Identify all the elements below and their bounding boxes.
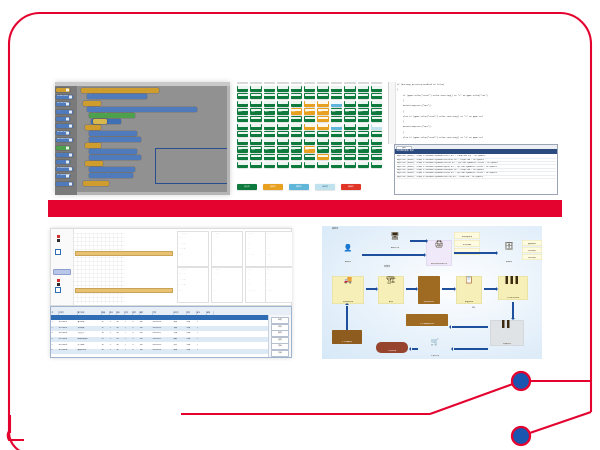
palette-block[interactable]: call Web1.Get: [56, 131, 70, 135]
tile-body: M-09: [345, 157, 355, 159]
status-tile[interactable]: M-05: [291, 124, 302, 130]
status-tile[interactable]: M-07: [317, 162, 328, 168]
status-tile[interactable]: M-06: [304, 86, 315, 92]
tile-body: M-01: [238, 142, 248, 144]
canvas-block[interactable]: set Label2.Text to length get list: [85, 143, 101, 148]
palette-block[interactable]: set ListView1.Elements: [56, 167, 73, 171]
status-tile[interactable]: M-06: [304, 154, 315, 160]
status-tile[interactable]: M-09: [344, 131, 355, 137]
status-tile[interactable]: M-11: [371, 139, 382, 145]
flow-arrow: [484, 288, 496, 290]
status-tile[interactable]: M-08: [331, 101, 342, 107]
flow-node-putaway[interactable]: 🛒上架入库: [420, 338, 450, 358]
status-tile[interactable]: M-10: [358, 93, 369, 99]
screenshot-schedule-and-table[interactable]: 工序安排表设备编号 M-01计划数量 1200实际数量 1180完成率 98%工…: [50, 228, 292, 358]
status-tile[interactable]: M-10: [358, 131, 369, 137]
canvas-block[interactable]: call Notifier1.ShowAlert notice: [85, 161, 103, 166]
palette-block[interactable]: if then else: [56, 117, 70, 121]
tile-body: M-08: [331, 89, 341, 91]
table-cell: 18: [101, 344, 109, 347]
canvas-block[interactable]: set global selectedItem to ListPicker1.S…: [87, 94, 147, 99]
status-tile[interactable]: M-02: [250, 116, 261, 122]
status-tile[interactable]: M-07: [317, 86, 328, 92]
column-header-chip: [291, 82, 302, 84]
palette-block[interactable]: get global count: [56, 110, 73, 114]
status-tile[interactable]: M-06: [304, 116, 315, 122]
tile-label: M-10: [358, 142, 368, 145]
status-tile[interactable]: M-06: [304, 93, 315, 99]
status-legend: 运行中待机中保养中未启用故障中: [237, 183, 385, 195]
table-row[interactable]: 2SO-230102东芝机械32个48107682023-01-10李娜已审Y: [51, 326, 291, 331]
tile-body: M-04: [278, 142, 288, 144]
status-tile[interactable]: M-04: [277, 116, 288, 122]
status-tile[interactable]: M-01: [237, 101, 248, 107]
status-tile[interactable]: M-08: [331, 139, 342, 145]
tile-label: M-05: [291, 119, 301, 122]
screenshot-logistics-flow[interactable]: 🖥采购订单👤采购员🖨物料自动识别分类到货通知单出库单据作业任务单🗄数据库基础资料…: [322, 226, 542, 359]
status-tile[interactable]: M-03: [264, 116, 275, 122]
status-tile[interactable]: M-10: [358, 162, 369, 168]
screenshot-code-editor[interactable]: if (bartoqu_pruttiny.Enabled == false){ …: [388, 82, 558, 195]
status-tile[interactable]: M-06: [304, 131, 315, 137]
gantt-detail-card[interactable]: 质检结果抽检 50合格 49不良 1判定 合格: [265, 231, 292, 267]
tile-label: M-05: [291, 165, 301, 168]
table-cell: 富士电机: [77, 321, 101, 324]
tile-label: M-02: [251, 142, 261, 145]
tile-body: M-11: [372, 104, 382, 106]
tile-label: M-03: [264, 127, 274, 130]
flow-arrow: [454, 252, 496, 254]
tile-label: M-10: [358, 134, 368, 137]
status-tile[interactable]: M-05: [291, 86, 302, 92]
tile-label: M-11: [372, 104, 382, 107]
tile-body: M-10: [358, 165, 368, 167]
status-tile[interactable]: M-04: [277, 139, 288, 145]
slide-canvas: when Screen1.Initializeset Label1.Text t…: [0, 0, 600, 450]
canvas-block[interactable]: set Label1.Visible to false: [89, 155, 141, 160]
canvas-block[interactable]: when ListPicker1.AfterPicking: [89, 173, 133, 178]
flow-arrowhead: [496, 251, 498, 255]
gantt-card-row: 不良 1: [267, 248, 292, 250]
status-tile[interactable]: M-10: [358, 124, 369, 130]
tile-body: M-01: [238, 119, 248, 121]
gantt-detail-card[interactable]: 质检结果抽检 50合格 49不良 1判定 合格: [265, 267, 292, 303]
status-tile[interactable]: M-01: [237, 116, 248, 122]
code-line: if (bartoqu_pruttiny.Enabled == false): [397, 84, 444, 87]
blocks-vertical-scrollbar[interactable]: [227, 86, 230, 195]
table-cell: 0: [132, 332, 139, 335]
status-tile[interactable]: M-01: [237, 154, 248, 160]
status-tile[interactable]: M-02: [250, 131, 261, 137]
tile-body: M-07: [318, 142, 328, 144]
tile-label: M-08: [331, 104, 341, 107]
status-tile[interactable]: M-06: [304, 162, 315, 168]
flow-node-reject-store[interactable]: 不合格品库: [332, 330, 362, 344]
tile-label: M-04: [278, 157, 288, 160]
status-tile[interactable]: M-06: [304, 146, 315, 152]
flow-node-reject-area[interactable]: 不合格品暂存区: [406, 314, 448, 326]
tile-label: M-04: [278, 89, 288, 92]
status-tile[interactable]: M-08: [331, 131, 342, 137]
gantt-detail-card[interactable]: 批次信息批次号 B2301投入 1200产出 1180良率 98.3%: [211, 267, 243, 303]
tile-label: M-11: [372, 96, 382, 99]
status-tile[interactable]: M-11: [371, 116, 382, 122]
status-tile[interactable]: M-01: [237, 162, 248, 168]
tile-body: M-01: [238, 112, 248, 114]
flow-node-inbound-done[interactable]: 入库完成: [376, 342, 408, 353]
table-cell: 48: [116, 332, 124, 335]
tile-body: M-04: [278, 96, 288, 98]
status-tile[interactable]: M-11: [371, 86, 382, 92]
flow-node-glyph: 🚚: [344, 277, 353, 284]
tile-label: M-01: [238, 142, 248, 145]
status-tile[interactable]: M-07: [317, 131, 328, 137]
blocks-canvas[interactable]: when ListPicker1.AfterPickingset global …: [77, 86, 230, 195]
status-tile[interactable]: M-05: [291, 146, 302, 152]
tile-body: M-05: [291, 119, 301, 121]
canvas-block-label: set global selectedItem to ListPicker1.S…: [83, 181, 109, 186]
table-row[interactable]: 5SO-230105松下电器18个48107682023-01-13孙杰已审Y: [51, 343, 291, 348]
canvas-block-label: call Notifier1.ShowAlert notice: [85, 161, 103, 166]
status-tile[interactable]: M-05: [291, 101, 302, 107]
palette-block[interactable]: set Label1.Text to: [56, 95, 73, 99]
table-cell: 2: [51, 327, 58, 330]
status-tile[interactable]: M-01: [237, 86, 248, 92]
status-tile[interactable]: M-04: [277, 131, 288, 137]
status-tile[interactable]: M-06: [304, 101, 315, 107]
tile-label: M-01: [238, 150, 248, 153]
tile-body: M-07: [318, 89, 328, 91]
flow-node-notice-list2[interactable]: 出库单据: [454, 240, 480, 247]
status-tile[interactable]: M-10: [358, 101, 369, 107]
legend-chip: 未启用: [315, 184, 335, 190]
status-tile[interactable]: M-05: [291, 93, 302, 99]
status-tile[interactable]: M-11: [371, 162, 382, 168]
blocks-horizontal-scrollbar[interactable]: [77, 192, 230, 195]
legend-chip: 待机中: [263, 184, 283, 190]
gantt-marker-red-2: [57, 279, 60, 282]
gantt-bar-1[interactable]: [75, 251, 173, 256]
tile-label: M-04: [278, 134, 288, 137]
status-tile[interactable]: M-05: [291, 162, 302, 168]
canvas-block[interactable]: when ListPicker1.AfterPicking: [81, 88, 159, 93]
palette-block[interactable]: set TinyDB1.StoreValue: [56, 146, 70, 150]
order-table[interactable]: 序订单号客户名称数量单位单价折扣税率金额交期业务员状态备注审核 1SO-2301…: [50, 306, 292, 358]
flow-node-supplier-delivery[interactable]: 🚚供应商送货: [332, 276, 364, 304]
tile-body: M-09: [345, 134, 355, 136]
table-row[interactable]: 1SO-230101富士电机20个48107682023-01-09张伟已审Y: [51, 321, 291, 326]
flow-node-erp-system[interactable]: 🖨物料自动识别分类: [426, 240, 452, 266]
table-cell: Y: [196, 349, 206, 352]
status-tile[interactable]: M-08: [331, 162, 342, 168]
canvas-block[interactable]: set Label1.Visible to true: [89, 137, 141, 142]
table-cell: 2023-01-10: [152, 327, 173, 330]
status-tile[interactable]: M-03: [264, 146, 275, 152]
status-tile[interactable]: M-08: [331, 146, 342, 152]
status-tile[interactable]: M-09: [344, 108, 355, 114]
tile-label: M-08: [331, 119, 341, 122]
gantt-card-row: 设备编号 M-01: [179, 237, 207, 239]
flow-node-label: 基础资料: [522, 243, 542, 245]
status-tile[interactable]: M-03: [264, 101, 275, 107]
flow-node-barcode-print[interactable]: ▌▌▌打印条码标签: [498, 276, 528, 300]
screenshot-status-board[interactable]: M-01M-02M-03M-04M-05M-06M-07M-08M-09M-10…: [237, 82, 385, 195]
status-tile[interactable]: M-09: [344, 124, 355, 130]
table-cell: 2023-01-13: [152, 344, 173, 347]
flow-node-inspect-area[interactable]: 收货暂存区: [418, 276, 440, 304]
canvas-block[interactable]: set Label_Status.Text to join text get g…: [85, 125, 101, 130]
status-tile[interactable]: M-09: [344, 146, 355, 152]
gantt-resource-rail[interactable]: [51, 229, 74, 305]
accent-dot-upper: [512, 372, 530, 390]
table-cell: 0: [132, 344, 139, 347]
status-tile[interactable]: M-03: [264, 93, 275, 99]
status-tile[interactable]: M-11: [371, 93, 382, 99]
status-tile[interactable]: M-02: [250, 86, 261, 92]
status-tile[interactable]: M-03: [264, 131, 275, 137]
status-tile[interactable]: M-04: [277, 154, 288, 160]
status-tile[interactable]: M-09: [344, 116, 355, 122]
status-tile[interactable]: M-07: [317, 139, 328, 145]
canvas-block[interactable]: then: [89, 131, 137, 136]
status-tile[interactable]: M-07: [317, 108, 328, 114]
flow-node-db-label3[interactable]: 业务资料: [522, 254, 542, 260]
status-tile[interactable]: M-01: [237, 146, 248, 152]
status-tile[interactable]: M-07: [317, 154, 328, 160]
status-tile[interactable]: M-03: [264, 108, 275, 114]
canvas-block-label: open another screen screenName: [89, 167, 135, 172]
status-tile[interactable]: M-08: [331, 154, 342, 160]
gantt-card-row: 批次号 B2301: [213, 273, 241, 275]
table-cell: 0: [132, 327, 139, 330]
gantt-group-pill[interactable]: [53, 269, 71, 275]
table-cell: 东芝机械: [77, 327, 101, 330]
palette-block[interactable]: get responseContent: [56, 153, 73, 157]
output-console[interactable]: 输出 显示输出来源: 调试 “AppX.exe”(Win32): 已加载“C:\…: [394, 144, 558, 195]
blocks-palette[interactable]: when Screen1.Initializeset Label1.Text t…: [55, 86, 77, 195]
flow-node-unload[interactable]: 🏗卸货: [378, 276, 404, 304]
tile-body: M-07: [318, 119, 328, 121]
palette-block[interactable]: when Button1.Click: [56, 138, 73, 142]
legend-chip: 运行中: [237, 184, 257, 190]
status-tile[interactable]: M-04: [277, 93, 288, 99]
palette-block[interactable]: for each number from: [56, 160, 70, 164]
status-tile[interactable]: M-08: [331, 93, 342, 99]
status-tile[interactable]: M-09: [344, 162, 355, 168]
canvas-block[interactable]: compare texts get global selectedItem = …: [87, 107, 197, 112]
tile-body: M-11: [372, 89, 382, 91]
tile-label: M-03: [264, 134, 274, 137]
gantt-card-title: 批次信息: [213, 233, 241, 235]
block-plug: [66, 161, 69, 164]
status-tile[interactable]: M-07: [317, 116, 328, 122]
status-tile[interactable]: M-08: [331, 86, 342, 92]
status-tile[interactable]: M-11: [371, 146, 382, 152]
palette-block[interactable]: call TinyWebDB1.GetValue: [56, 174, 70, 178]
palette-block[interactable]: set global index to: [56, 124, 73, 128]
status-tile[interactable]: M-10: [358, 108, 369, 114]
status-tile[interactable]: M-10: [358, 116, 369, 122]
tile-body: M-11: [372, 127, 382, 129]
status-tile[interactable]: M-08: [331, 116, 342, 122]
flow-node-database[interactable]: 🗄数据库: [498, 242, 520, 264]
status-tile[interactable]: M-04: [277, 86, 288, 92]
table-action-button[interactable]: 关闭: [271, 350, 289, 357]
status-tile[interactable]: M-05: [291, 108, 302, 114]
tile-body: M-05: [291, 89, 301, 91]
table-row[interactable]: 4SO-230104欧姆龙自动化24个48107682023-01-12赵敏已审…: [51, 337, 291, 342]
tile-label: M-09: [345, 96, 355, 99]
status-tile[interactable]: M-04: [277, 101, 288, 107]
status-tile[interactable]: M-09: [344, 101, 355, 107]
status-tile[interactable]: M-05: [291, 116, 302, 122]
tile-body: M-06: [305, 119, 315, 121]
table-row[interactable]: 3SO-230103三菱重工16个48107682023-01-11王强已审Y: [51, 332, 291, 337]
status-tile[interactable]: M-02: [250, 108, 261, 114]
status-tile[interactable]: M-01: [237, 131, 248, 137]
status-tile[interactable]: M-08: [331, 108, 342, 114]
status-tile[interactable]: M-02: [250, 101, 261, 107]
status-tile[interactable]: M-02: [250, 162, 261, 168]
flow-node-scan-in[interactable]: ▌▌扫描录入: [490, 320, 524, 346]
code-line: {: [397, 89, 398, 92]
tile-body: M-01: [238, 157, 248, 159]
status-tile[interactable]: M-09: [344, 139, 355, 145]
table-action-button[interactable]: 新增: [271, 317, 289, 324]
tile-label: M-11: [372, 142, 382, 145]
flow-arrowhead: [424, 253, 426, 257]
status-tile[interactable]: M-04: [277, 162, 288, 168]
tile-body: M-03: [264, 142, 274, 144]
status-tile[interactable]: M-11: [371, 124, 382, 130]
tile-body: M-06: [305, 142, 315, 144]
status-tile[interactable]: M-05: [291, 139, 302, 145]
status-tile[interactable]: M-05: [291, 131, 302, 137]
tile-body: M-04: [278, 119, 288, 121]
status-tile[interactable]: M-10: [358, 86, 369, 92]
flow-node-db-label2[interactable]: 库存资料: [522, 247, 542, 253]
status-tile[interactable]: M-08: [331, 124, 342, 130]
status-tile[interactable]: M-02: [250, 93, 261, 99]
status-tile[interactable]: M-10: [358, 154, 369, 160]
status-tile[interactable]: M-02: [250, 124, 261, 130]
gantt-detail-card[interactable]: 工序安排表设备编号 M-01计划数量 1200实际数量 1180完成率 98%: [177, 267, 209, 303]
status-tile[interactable]: M-11: [371, 101, 382, 107]
status-tile[interactable]: M-04: [277, 124, 288, 130]
tile-body: M-08: [331, 112, 341, 114]
canvas-block[interactable]: else: [89, 149, 137, 154]
canvas-block[interactable]: open another screen screenName: [89, 167, 135, 172]
tile-label: M-01: [238, 96, 248, 99]
status-tile[interactable]: M-09: [344, 154, 355, 160]
gantt-detail-card[interactable]: 批次信息批次号 B2301投入 1200产出 1180良率 98.3%: [211, 231, 243, 267]
tile-body: M-11: [372, 119, 382, 121]
gantt-board[interactable]: 工序安排表设备编号 M-01计划数量 1200实际数量 1180完成率 98%工…: [50, 228, 292, 306]
flow-node-db-label1[interactable]: 基础资料: [522, 240, 542, 246]
status-tile[interactable]: M-07: [317, 146, 328, 152]
block-plug: [69, 168, 72, 171]
flow-node-glyph: 🖥: [391, 233, 400, 240]
status-tile[interactable]: M-06: [304, 139, 315, 145]
status-tile[interactable]: M-07: [317, 93, 328, 99]
gantt-node-1[interactable]: [55, 249, 61, 255]
flow-node-purchase-order[interactable]: 🖥采购订单: [382, 232, 408, 250]
status-tile[interactable]: M-09: [344, 86, 355, 92]
status-tile-grid[interactable]: M-01M-02M-03M-04M-05M-06M-07M-08M-09M-10…: [237, 82, 385, 170]
canvas-block[interactable]: empty list: [93, 119, 107, 124]
flow-node-notice-list[interactable]: 到货通知单: [454, 232, 480, 239]
tile-body: M-09: [345, 119, 355, 121]
status-tile[interactable]: M-01: [237, 139, 248, 145]
status-tile[interactable]: M-01: [237, 124, 248, 130]
status-tile[interactable]: M-04: [277, 146, 288, 152]
status-tile[interactable]: M-01: [237, 108, 248, 114]
status-tile[interactable]: M-03: [264, 86, 275, 92]
tile-body: M-10: [358, 112, 368, 114]
status-tile[interactable]: M-02: [250, 154, 261, 160]
status-tile[interactable]: M-04: [277, 108, 288, 114]
table-side-buttons[interactable]: 新增修改删除查询导出关闭: [268, 315, 291, 357]
status-tile[interactable]: M-10: [358, 146, 369, 152]
palette-block[interactable]: close screen: [56, 182, 73, 186]
status-tile[interactable]: M-03: [264, 162, 275, 168]
table-selected-row-highlight[interactable]: [51, 315, 291, 320]
status-tile[interactable]: M-02: [250, 139, 261, 145]
tile-label: M-04: [278, 150, 288, 153]
status-tile[interactable]: M-06: [304, 108, 315, 114]
table-cell: Y: [196, 332, 206, 335]
status-tile[interactable]: M-07: [317, 101, 328, 107]
tile-label: M-04: [278, 142, 288, 145]
palette-block[interactable]: call Clock1.Now: [56, 102, 70, 106]
tile-label: M-02: [251, 112, 261, 115]
status-tile[interactable]: M-11: [371, 131, 382, 137]
red-separator-band: [48, 200, 562, 217]
status-tile[interactable]: M-11: [371, 154, 382, 160]
gantt-detail-card[interactable]: 工序安排表设备编号 M-01计划数量 1200实际数量 1180完成率 98%: [177, 231, 209, 267]
flow-node-buyer[interactable]: 👤采购员: [336, 244, 360, 264]
status-tile[interactable]: M-02: [250, 146, 261, 152]
status-tile[interactable]: M-05: [291, 154, 302, 160]
tile-label: M-11: [372, 127, 382, 130]
status-tile[interactable]: M-06: [304, 124, 315, 130]
gantt-node-2[interactable]: [55, 287, 61, 293]
table-cell: 48: [116, 327, 124, 330]
canvas-block[interactable]: call TinyDB1.GetValue tag: [89, 113, 135, 118]
code-editor-area[interactable]: if (bartoqu_pruttiny.Enabled == false){ …: [388, 82, 558, 144]
status-tile[interactable]: M-10: [358, 139, 369, 145]
canvas-block[interactable]: do if: [83, 101, 101, 106]
gantt-bar-2[interactable]: [75, 288, 173, 293]
tile-label: M-02: [251, 96, 261, 99]
status-tile[interactable]: M-01: [237, 93, 248, 99]
table-row[interactable]: 6SO-230106基恩士仪器28个48107682023-01-16周涛已审Y: [51, 349, 291, 354]
status-tile[interactable]: M-07: [317, 124, 328, 130]
screenshot-blocks-editor[interactable]: when Screen1.Initializeset Label1.Text t…: [55, 82, 230, 195]
table-cell: 32: [101, 327, 109, 330]
status-tile[interactable]: M-11: [371, 108, 382, 114]
status-tile[interactable]: M-03: [264, 124, 275, 130]
status-tile[interactable]: M-09: [344, 93, 355, 99]
tile-body: M-05: [291, 104, 301, 106]
palette-block[interactable]: when Screen1.Initialize: [56, 88, 70, 92]
status-tile[interactable]: M-03: [264, 139, 275, 145]
table-cell: 已审: [186, 327, 196, 330]
status-tile[interactable]: M-03: [264, 154, 275, 160]
canvas-block[interactable]: set global selectedItem to ListPicker1.S…: [83, 181, 109, 186]
console-source-selector[interactable]: 显示输出来源: 调试: [395, 149, 557, 154]
flow-node-quantity-check[interactable]: 📋数量检验: [456, 276, 482, 304]
